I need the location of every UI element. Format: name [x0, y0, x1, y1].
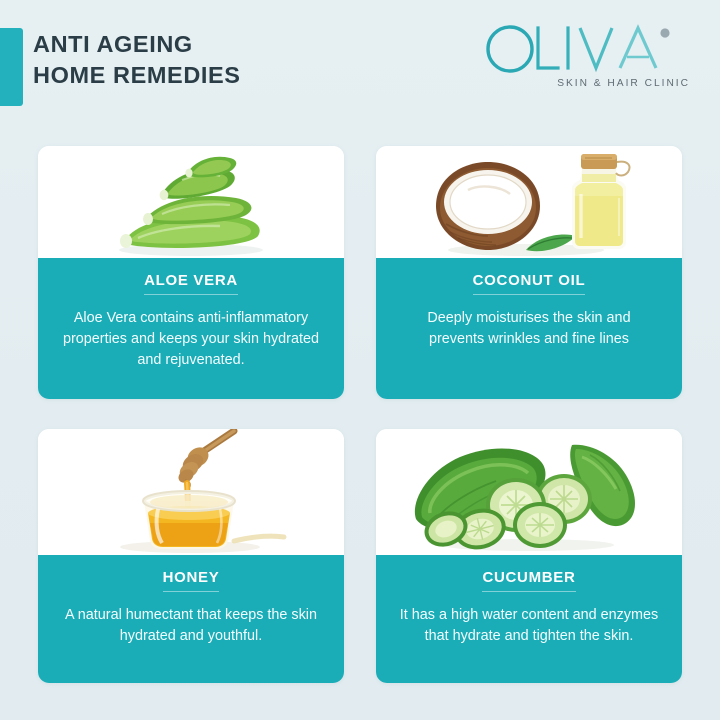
card-title-honey: HONEY: [163, 569, 220, 592]
logo-oliva-svg: [482, 24, 692, 74]
remedy-card-aloe-vera: ALOE VERA Aloe Vera contains anti-inflam…: [38, 146, 344, 399]
remedy-card-cucumber: CUCUMBER It has a high water content and…: [376, 429, 682, 683]
card-description-aloe-vera: Aloe Vera contains anti-inflammatory pro…: [54, 308, 328, 371]
card-description-coconut-oil: Deeply moisturises the skin and prevents…: [392, 308, 666, 350]
logo-tagline: SKIN & HAIR CLINIC: [557, 78, 690, 89]
coconut-and-oil-bottle-photo: [376, 146, 682, 258]
remedy-card-grid: ALOE VERA Aloe Vera contains anti-inflam…: [38, 146, 682, 683]
aloe-vera-card-body: ALOE VERA Aloe Vera contains anti-inflam…: [38, 258, 344, 399]
honey-jar-with-dipper-photo: [38, 429, 344, 555]
card-description-honey: A natural humectant that keeps the skin …: [54, 605, 328, 647]
coconut-oil-card-body: COCONUT OIL Deeply moisturises the skin …: [376, 258, 682, 399]
remedy-card-honey: HONEY A natural humectant that keeps the…: [38, 429, 344, 683]
coconut-oil-illustration: [376, 146, 682, 258]
card-title-cucumber: CUCUMBER: [482, 569, 575, 592]
page-title: ANTI AGEING HOME REMEDIES: [33, 29, 241, 91]
logo-wordmark: [482, 24, 692, 72]
card-title-aloe-vera: ALOE VERA: [144, 272, 238, 295]
oliva-logo: SKIN & HAIR CLINIC: [482, 24, 692, 96]
header-accent-bar: [0, 28, 23, 106]
remedy-card-coconut-oil: COCONUT OIL Deeply moisturises the skin …: [376, 146, 682, 399]
card-title-coconut-oil: COCONUT OIL: [473, 272, 586, 295]
cucumber-card-body: CUCUMBER It has a high water content and…: [376, 555, 682, 683]
aloe-vera-illustration: [38, 146, 344, 258]
honey-card-body: HONEY A natural humectant that keeps the…: [38, 555, 344, 683]
infographic-page: ANTI AGEING HOME REMEDIES: [0, 0, 720, 720]
aloe-vera-leaves-photo: [38, 146, 344, 258]
honey-illustration: [38, 429, 344, 555]
page-title-line-1: ANTI AGEING: [33, 31, 193, 57]
cucumber-illustration: [376, 429, 682, 555]
page-title-line-2: HOME REMEDIES: [33, 60, 241, 91]
card-description-cucumber: It has a high water content and enzymes …: [392, 605, 666, 647]
header: ANTI AGEING HOME REMEDIES: [0, 0, 720, 132]
cucumbers-and-slices-photo: [376, 429, 682, 555]
